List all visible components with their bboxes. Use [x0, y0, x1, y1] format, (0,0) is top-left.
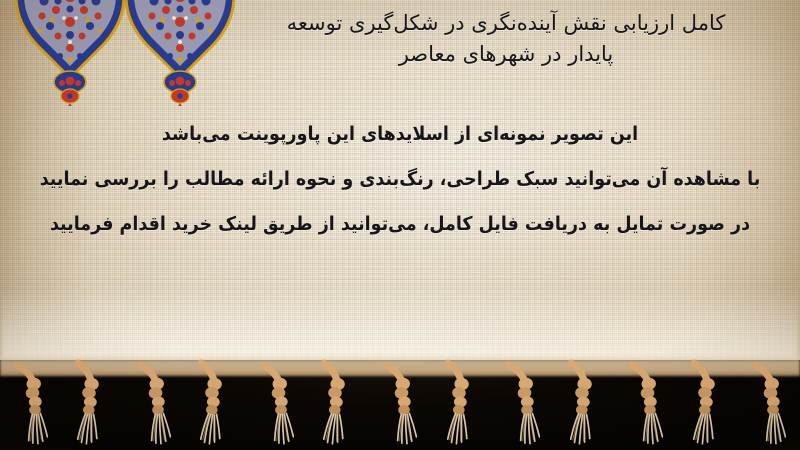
persian-medallion-ornament-right [122, 0, 238, 110]
carpet-tassel [75, 358, 109, 450]
carpet-tassel [14, 358, 48, 450]
slide-body-text: این تصویر نمونه‌ای از اسلایدهای این پاور… [0, 112, 800, 247]
persian-medallion-ornament-left [12, 0, 128, 110]
carpet-tassel [752, 358, 786, 450]
slide-title-line-1: کامل ارزیابی نقش آینده‌نگری در شکل‌گیری … [226, 8, 786, 39]
carpet-tassel [383, 358, 417, 450]
carpet-tassel [445, 358, 479, 450]
slide-title-line-2: پایدار در شهرهای معاصر [226, 39, 786, 70]
slide-body-line-3: در صورت تمایل به دریافت فایل کامل، می‌تو… [32, 202, 768, 247]
carpet-tassel [198, 358, 232, 450]
carpet-tassel [629, 358, 663, 450]
presentation-slide: کامل ارزیابی نقش آینده‌نگری در شکل‌گیری … [0, 0, 800, 450]
carpet-tassel [137, 358, 171, 450]
slide-title: کامل ارزیابی نقش آینده‌نگری در شکل‌گیری … [226, 8, 786, 70]
carpet-tassel [568, 358, 602, 450]
carpet-tassel [260, 358, 294, 450]
carpet-tassel [321, 358, 355, 450]
carpet-tassel [506, 358, 540, 450]
slide-body-line-1: این تصویر نمونه‌ای از اسلایدهای این پاور… [32, 112, 768, 157]
slide-body-line-2: با مشاهده آن می‌توانید سبک طراحی، رنگ‌بن… [32, 157, 768, 202]
carpet-tassel [691, 358, 725, 450]
